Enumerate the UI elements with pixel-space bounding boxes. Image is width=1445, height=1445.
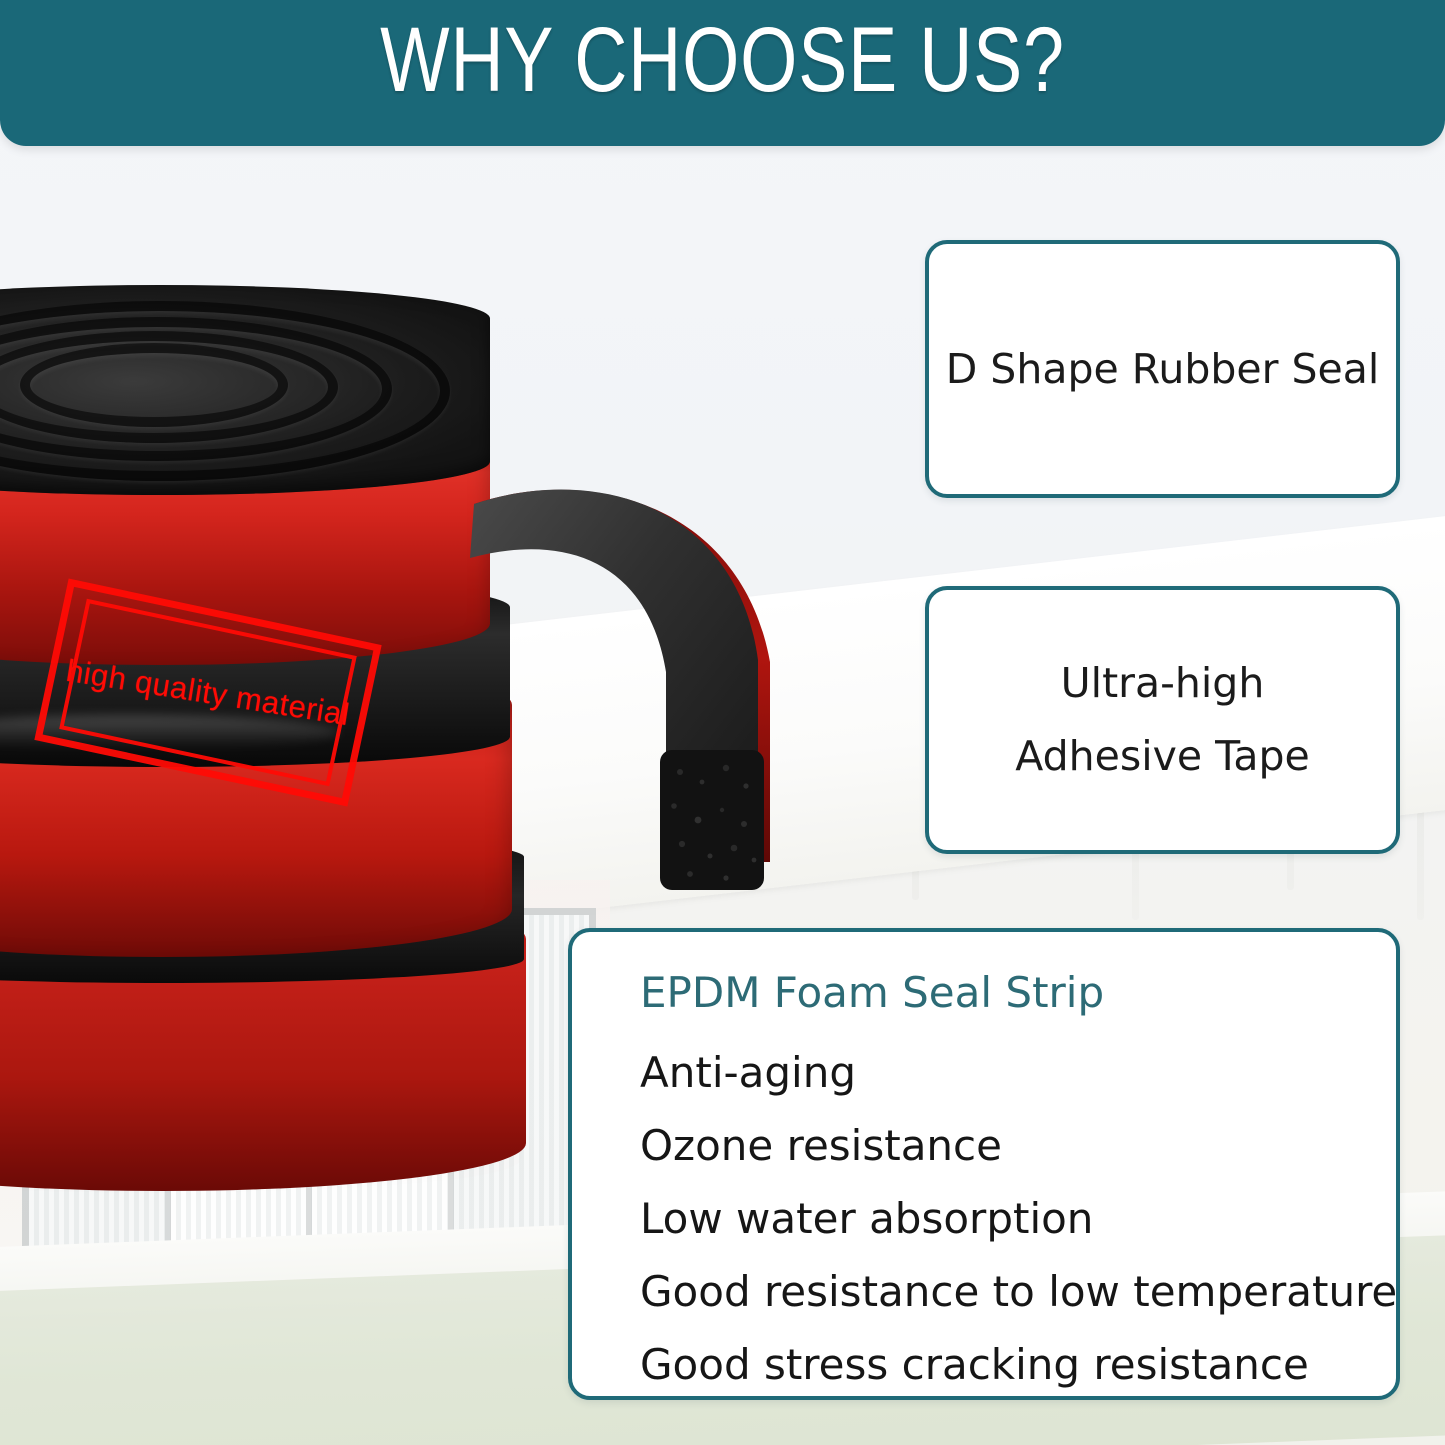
d-shape-strip-end [470, 480, 850, 920]
callout-ultra-high-adhesive-tape: Ultra-high Adhesive Tape [925, 586, 1400, 854]
list-item: Low water absorption [640, 1198, 1396, 1240]
list-item: Ozone resistance [640, 1125, 1396, 1167]
header-banner: WHY CHOOSE US? [0, 0, 1445, 146]
page-title: WHY CHOOSE US? [145, 12, 1301, 109]
callout-line-1: Ultra-high [1015, 647, 1309, 720]
list-item: Anti-aging [640, 1052, 1396, 1094]
specs-heading: EPDM Foam Seal Strip [640, 968, 1396, 1018]
callout-d-shape-rubber-seal: D Shape Rubber Seal [925, 240, 1400, 498]
specs-list: Anti-aging Ozone resistance Low water ab… [640, 1052, 1396, 1386]
list-item: Good stress cracking resistance [640, 1344, 1396, 1386]
list-item: Good resistance to low temperature [640, 1271, 1396, 1313]
callout-text: D Shape Rubber Seal [946, 333, 1380, 406]
callout-text: Ultra-high Adhesive Tape [1015, 647, 1309, 793]
product-infographic: high quality material WHY CHOOSE US? D S… [0, 0, 1445, 1445]
callout-epdm-foam-seal-strip: EPDM Foam Seal Strip Anti-aging Ozone re… [568, 928, 1400, 1400]
callout-line-2: Adhesive Tape [1015, 720, 1309, 793]
